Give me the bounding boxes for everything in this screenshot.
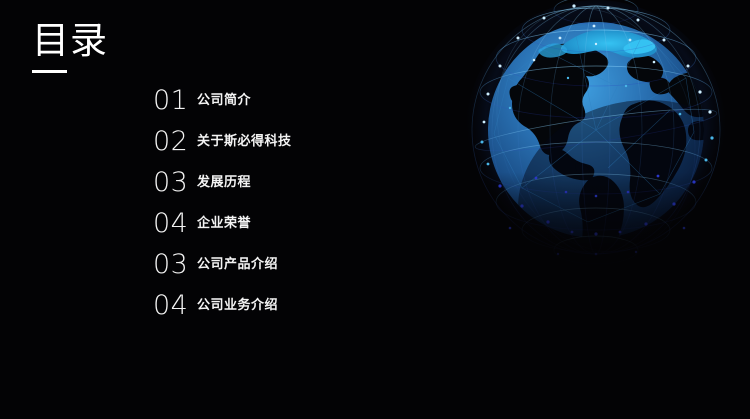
title-underline-rule [32,70,67,73]
toc-item-1[interactable]: 01 公司简介 [153,80,433,121]
toc-item-number: 04 [153,291,197,321]
slide-canvas: 目录 01 公司简介 02 关于斯必得科技 03 发展历程 04 企业荣誉 03… [0,0,750,419]
toc-item-number: 02 [153,127,197,157]
toc-item-number: 01 [153,86,197,116]
toc-item-label: 发展历程 [197,175,251,191]
toc-item-6[interactable]: 04 公司业务介绍 [153,285,433,326]
toc-item-2[interactable]: 02 关于斯必得科技 [153,121,433,162]
toc-item-label: 公司产品介绍 [197,257,278,273]
toc-item-number: 03 [153,168,197,198]
network-globe-icon [448,0,748,292]
toc-item-5[interactable]: 03 公司产品介绍 [153,244,433,285]
toc-item-label: 公司业务介绍 [197,298,278,314]
toc-item-4[interactable]: 04 企业荣誉 [153,203,433,244]
toc-item-number: 03 [153,250,197,280]
toc-item-number: 04 [153,209,197,239]
toc-list: 01 公司简介 02 关于斯必得科技 03 发展历程 04 企业荣誉 03 公司… [153,80,433,326]
toc-item-label: 公司简介 [197,93,251,109]
toc-item-3[interactable]: 03 发展历程 [153,162,433,203]
title-block: 目录 [32,20,232,73]
toc-item-label: 关于斯必得科技 [197,134,292,150]
toc-item-label: 企业荣誉 [197,216,251,232]
page-title: 目录 [32,20,232,62]
network-globe-svg [448,0,748,292]
